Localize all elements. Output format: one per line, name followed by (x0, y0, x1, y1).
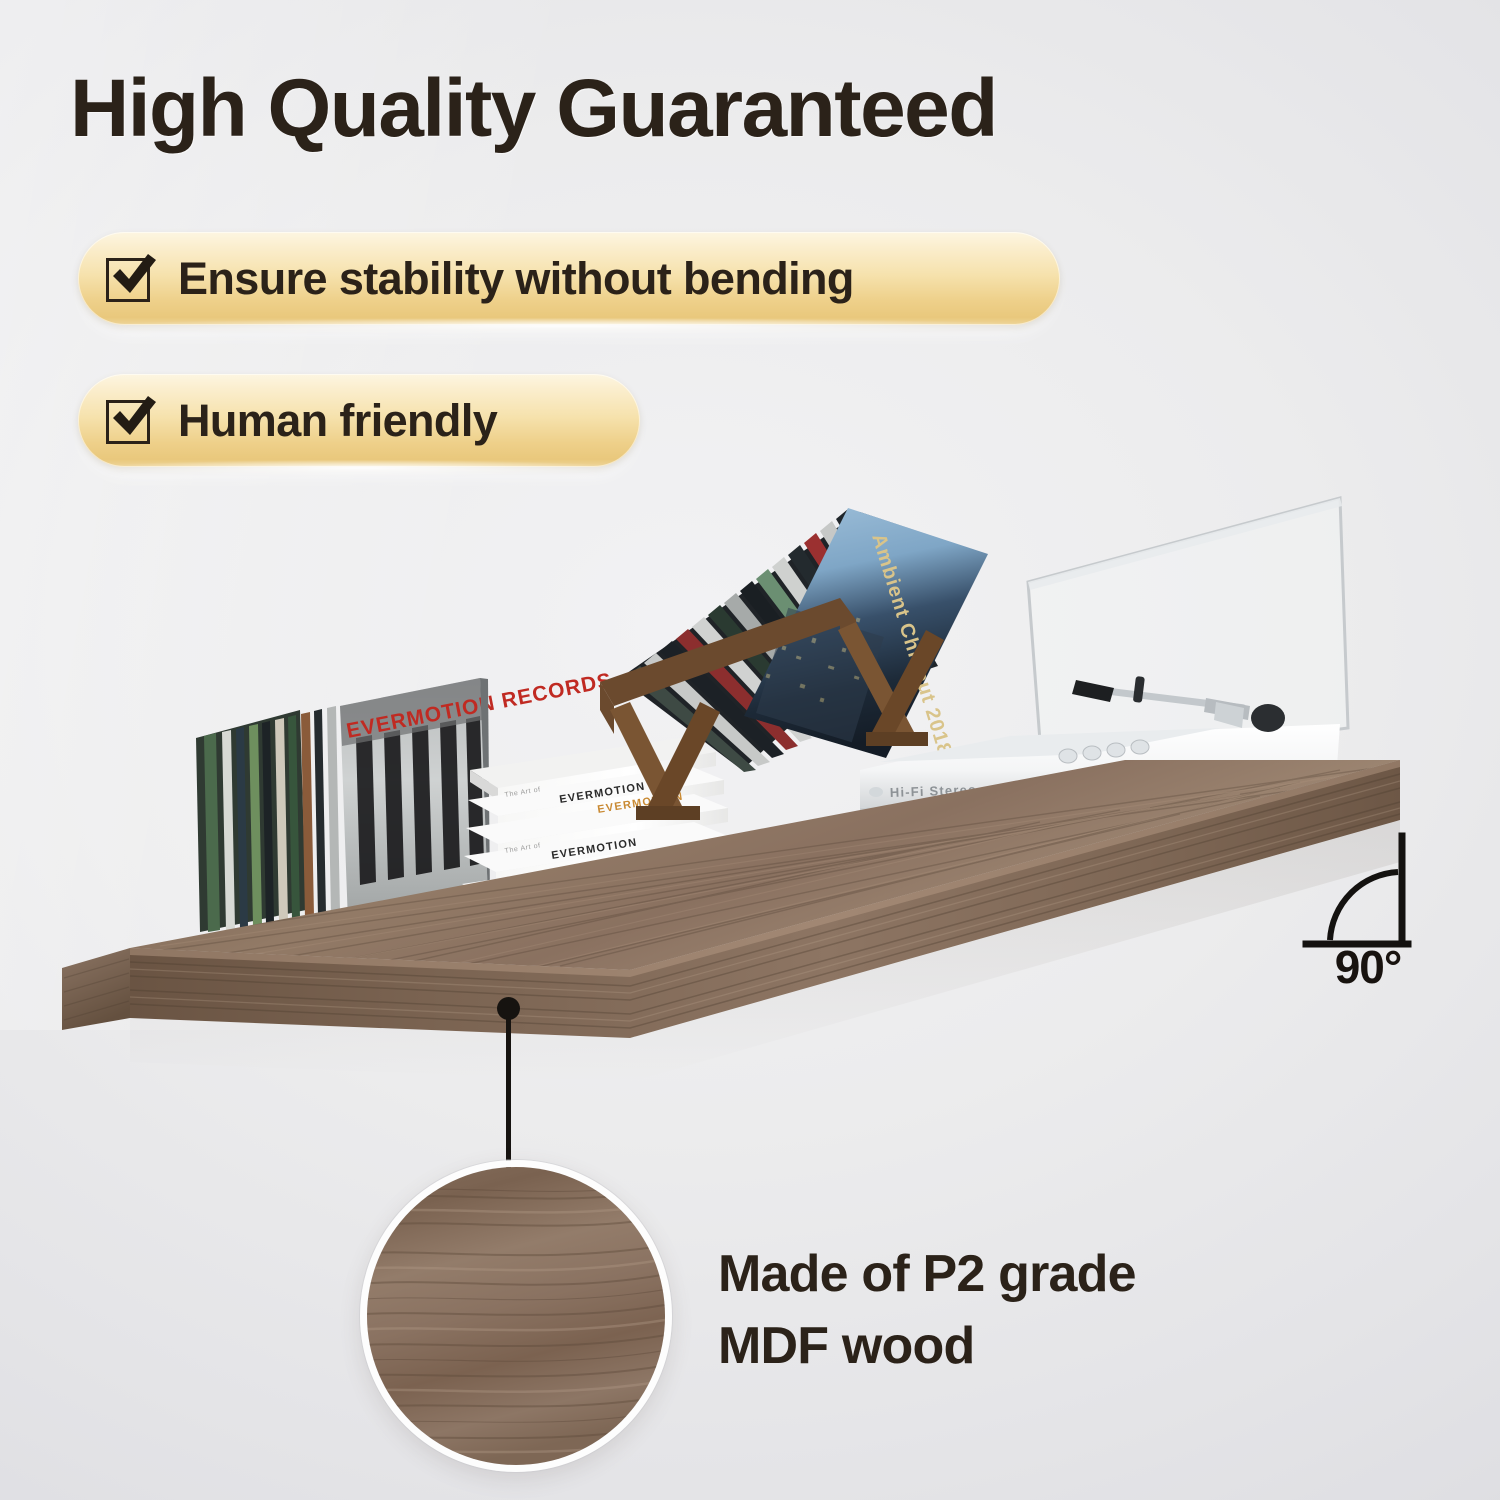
checkbox-checked-icon (104, 395, 156, 447)
poster-root: High Quality Guaranteed Ensure stability… (0, 0, 1500, 1500)
checkbox-checked-icon (104, 253, 156, 305)
right-angle-icon (1302, 832, 1424, 954)
page-title: High Quality Guaranteed (70, 68, 997, 150)
product-photo-scene: EVERMOTION RECORDS (0, 470, 1500, 1090)
material-callout-line2: MDF wood (718, 1310, 1136, 1382)
angle-label: 90° (1308, 940, 1428, 994)
floating-shelf-illustration: EVERMOTION RECORDS (0, 470, 1500, 1090)
feature-badge-human-friendly[interactable]: Human friendly (78, 374, 640, 467)
wood-grain-zoom-circle (360, 1160, 672, 1472)
material-callout-line1: Made of P2 grade (718, 1238, 1136, 1310)
feature-badge-label: Human friendly (178, 395, 497, 447)
feature-badge-stability[interactable]: Ensure stability without bending (78, 232, 1060, 325)
feature-badge-label: Ensure stability without bending (178, 253, 854, 305)
material-callout-text: Made of P2 grade MDF wood (718, 1238, 1136, 1382)
